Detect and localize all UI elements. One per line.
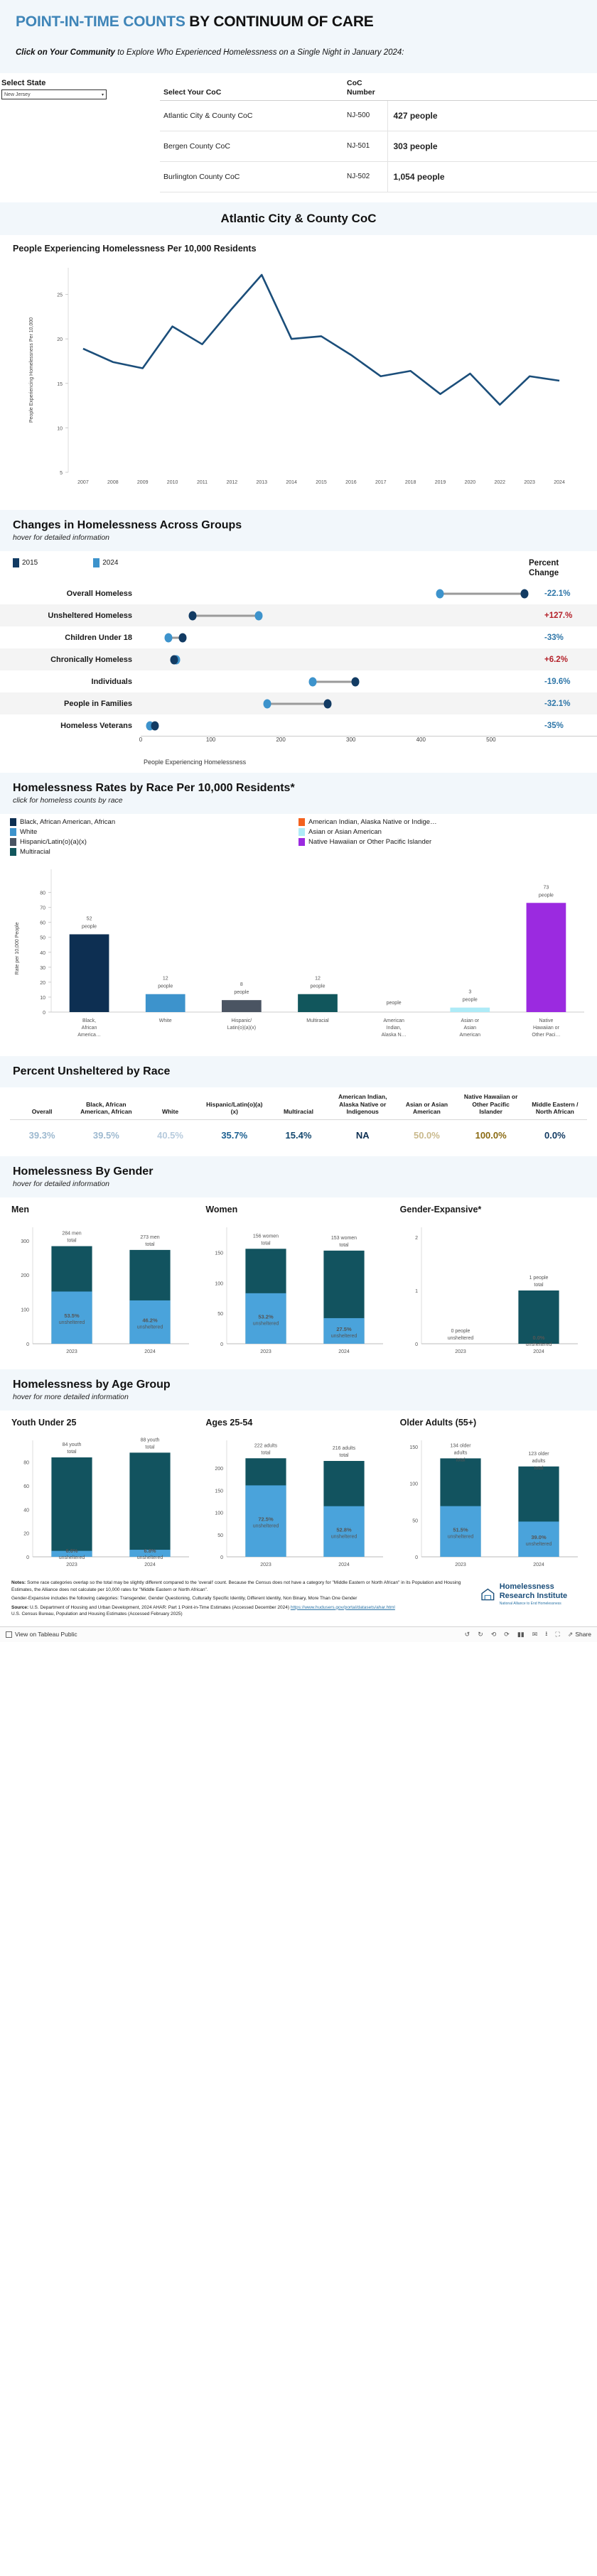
coc-number: NJ-502 — [343, 161, 387, 192]
svg-text:2024: 2024 — [144, 1349, 156, 1354]
legend-item[interactable]: White — [10, 828, 298, 836]
dumbbell-percent-change: -22.1% — [533, 589, 597, 598]
unsheltered-col-header: Middle Eastern / North African — [523, 1093, 587, 1120]
share-button[interactable]: ⇗Share — [568, 1631, 591, 1638]
redo-icon: ↻ — [478, 1631, 483, 1638]
dumbbell-row[interactable]: Overall Homeless-22.1% — [0, 582, 597, 604]
axis-tick: 0 — [139, 737, 142, 743]
svg-text:200: 200 — [21, 1274, 29, 1279]
svg-text:2013: 2013 — [256, 480, 267, 485]
unsheltered-value: 100.0% — [459, 1120, 523, 1150]
line-chart-svg: 510152025People Experiencing Homelessnes… — [13, 258, 584, 506]
footnotes: Notes: Some race categories overlap so t… — [0, 1572, 597, 1621]
legend-item-2024[interactable]: 2024 — [93, 558, 118, 567]
legend-item-2015[interactable]: 2015 — [13, 558, 38, 567]
dumbbell-row[interactable]: People in Families-32.1% — [0, 692, 597, 714]
unsheltered-col-header: American Indian, Alaska Native or Indige… — [330, 1093, 394, 1120]
svg-text:unsheltered: unsheltered — [137, 1325, 163, 1330]
note-line-2: Gender-Expansive includes the following … — [11, 1595, 472, 1602]
coc-name: Atlantic City & County CoC — [160, 100, 343, 131]
svg-text:2011: 2011 — [197, 480, 208, 485]
svg-text:50: 50 — [40, 936, 45, 941]
subscribe-button[interactable]: ✉ — [532, 1631, 538, 1638]
race-bar-svg: 01020304050607080Rate per 10,000 People5… — [7, 861, 590, 1056]
svg-text:2014: 2014 — [286, 480, 297, 485]
envelope-icon: ✉ — [532, 1631, 538, 1638]
dashboard-page: POINT-IN-TIME COUNTS BY CONTINUUM OF CAR… — [0, 0, 597, 1642]
refresh-button[interactable]: ⟳ — [504, 1631, 510, 1638]
svg-text:2023: 2023 — [66, 1563, 77, 1567]
stacked-chart-title: Youth Under 25 — [11, 1418, 197, 1428]
dumbbell-dot-2015[interactable] — [351, 677, 359, 686]
race-legend-col-right: American Indian, Alaska Native or Indige… — [298, 818, 587, 858]
svg-text:1 people: 1 people — [529, 1276, 548, 1281]
tableau-icon — [6, 1631, 12, 1638]
age-charts-row: Youth Under 2502040608084 youthtotal6.0%… — [0, 1411, 597, 1572]
coc-people-count: 303 people — [387, 131, 597, 161]
svg-text:2023: 2023 — [455, 1563, 466, 1567]
redo-button[interactable]: ↻ — [478, 1631, 483, 1638]
stacked-bar-svg[interactable]: 050100150156 womentotal53.2%unsheltered2… — [205, 1217, 387, 1359]
logo-line1: Homelessness Research Institute — [500, 1582, 586, 1599]
dumbbell-track — [141, 604, 533, 626]
svg-text:200: 200 — [215, 1467, 224, 1472]
dumbbell-dot-2024[interactable] — [264, 699, 271, 708]
fullscreen-button[interactable]: ⛶ — [555, 1631, 559, 1638]
legend-label: Black, African American, African — [20, 818, 115, 826]
line-chart-title: People Experiencing Homelessness Per 10,… — [13, 244, 584, 254]
svg-text:unsheltered: unsheltered — [525, 1543, 552, 1548]
pause-icon: ▮▮ — [517, 1631, 525, 1638]
refresh-icon: ⟳ — [504, 1631, 510, 1638]
dumbbell-connector — [267, 702, 328, 705]
svg-text:Other Paci…: Other Paci… — [532, 1033, 560, 1038]
svg-text:150: 150 — [215, 1489, 224, 1494]
hero-header: POINT-IN-TIME COUNTS BY CONTINUUM OF CAR… — [0, 0, 597, 73]
dumbbell-dot-2015[interactable] — [151, 721, 158, 730]
dumbbell-percent-change: -35% — [533, 722, 597, 730]
svg-text:0: 0 — [220, 1555, 223, 1560]
selector-row: Select State New Jersey ▾ Select Your Co… — [0, 73, 597, 192]
dumbbell-dot-2024[interactable] — [436, 589, 443, 598]
svg-text:84 youth: 84 youth — [63, 1442, 82, 1447]
unsheltered-table: OverallBlack, African American, AfricanW… — [10, 1093, 587, 1149]
line-chart[interactable]: 510152025People Experiencing Homelessnes… — [13, 258, 584, 510]
svg-text:unsheltered: unsheltered — [137, 1555, 163, 1560]
svg-text:0: 0 — [415, 1555, 418, 1560]
dumbbell-track — [141, 582, 533, 604]
coc-name: Burlington County CoC — [160, 161, 343, 192]
svg-text:70: 70 — [40, 906, 45, 911]
dumbbell-x-axis: 0100200300400500 — [141, 737, 597, 758]
svg-text:60: 60 — [40, 921, 45, 926]
unsheltered-col-header: Native Hawaiian or Other Pacific Islande… — [459, 1093, 523, 1120]
svg-text:39.0%: 39.0% — [531, 1535, 547, 1541]
undo-icon: ↺ — [465, 1631, 470, 1638]
state-select-value: New Jersey — [4, 92, 102, 97]
line-chart-panel: People Experiencing Homelessness Per 10,… — [0, 235, 597, 510]
svg-text:0 people: 0 people — [451, 1329, 470, 1334]
dumbbell-row[interactable]: Individuals-19.6% — [0, 670, 597, 692]
dumbbell-connector — [193, 614, 259, 616]
dumbbell-row[interactable]: Chronically Homeless+6.2% — [0, 648, 597, 670]
stacked-chart-title: Older Adults (55+) — [400, 1418, 586, 1428]
unsheltered-banner: Percent Unsheltered by Race — [0, 1056, 597, 1087]
svg-text:2017: 2017 — [375, 480, 387, 485]
coc-col-people — [387, 79, 597, 100]
coc-people-count: 427 people — [387, 100, 597, 131]
svg-text:Asian: Asian — [464, 1026, 477, 1031]
axis-tick: 100 — [206, 737, 215, 743]
svg-text:unsheltered: unsheltered — [253, 1322, 279, 1327]
svg-text:50: 50 — [218, 1313, 224, 1317]
stacked-chart-cell: Men0100200300284 mentotal53.5%unsheltere… — [7, 1205, 201, 1359]
gender-banner: Homelessness By Gender hover for detaile… — [0, 1156, 597, 1197]
dumbbell-dot-2015[interactable] — [171, 655, 178, 664]
svg-text:2007: 2007 — [77, 480, 89, 485]
gender-charts-row: Men0100200300284 mentotal53.5%unsheltere… — [0, 1197, 597, 1359]
svg-text:20: 20 — [40, 981, 45, 986]
toolbar-actions: ↺ ↻ ⟲ ⟳ ▮▮ ✉ ⭳ ⛶ ⇗Share — [465, 1629, 591, 1640]
dumbbell-percent-change: -32.1% — [533, 700, 597, 708]
dumbbell-row[interactable]: Unsheltered Homeless+127.% — [0, 604, 597, 626]
logo: Homelessness Research Institute National… — [480, 1580, 586, 1606]
svg-text:unsheltered: unsheltered — [447, 1336, 473, 1341]
dumbbell-dot-2024[interactable] — [309, 677, 317, 686]
coc-table-header-row: Select Your CoC CoC Number — [160, 79, 597, 100]
stacked-bar-svg[interactable]: 02040608084 youthtotal6.0%unsheltered202… — [11, 1430, 193, 1572]
view-on-tableau-public[interactable]: View on Tableau Public — [6, 1631, 77, 1638]
svg-text:60: 60 — [23, 1484, 29, 1489]
legend-item[interactable]: Hispanic/Latin(o)(a)(x) — [10, 838, 298, 846]
svg-text:15: 15 — [57, 381, 63, 386]
legend-swatch-2015 — [13, 558, 19, 567]
note-line-1: Notes: Some race categories overlap so t… — [11, 1580, 472, 1593]
dumbbell-row-label: Homeless Veterans — [0, 722, 141, 731]
coc-people-count: 1,054 people — [387, 161, 597, 192]
svg-text:People Experiencing Homelessne: People Experiencing Homelessness Per 10,… — [29, 317, 34, 422]
svg-text:72.5%: 72.5% — [259, 1516, 274, 1523]
svg-text:50: 50 — [412, 1519, 418, 1524]
svg-text:10: 10 — [40, 996, 45, 1001]
svg-text:30: 30 — [40, 966, 45, 971]
page-title-accent: POINT-IN-TIME COUNTS — [16, 13, 185, 30]
download-button[interactable]: ⭳ — [545, 1629, 547, 1640]
dumbbell-percent-change: +127.% — [533, 612, 597, 620]
svg-text:people: people — [310, 984, 325, 989]
stacked-bar-svg[interactable]: 050100150200222 adultstotal72.5%unshelte… — [205, 1430, 387, 1572]
svg-text:total: total — [67, 1239, 77, 1244]
svg-text:0.0%: 0.0% — [532, 1335, 544, 1341]
svg-text:40: 40 — [40, 951, 45, 956]
svg-text:134 older: 134 older — [450, 1444, 471, 1449]
svg-text:adults: adults — [453, 1451, 467, 1456]
svg-text:unsheltered: unsheltered — [59, 1321, 85, 1326]
svg-text:people: people — [463, 998, 478, 1003]
stacked-bar-svg[interactable]: 050100150134 olderadultstotal51.5%unshel… — [400, 1430, 582, 1572]
dumbbell-track — [141, 626, 533, 648]
race-banner: Homelessness Rates by Race Per 10,000 Re… — [0, 773, 597, 814]
svg-text:0: 0 — [415, 1342, 418, 1347]
svg-text:American: American — [459, 1033, 480, 1038]
svg-text:40: 40 — [23, 1509, 29, 1513]
unsheltered-col-header: Hispanic/Latin(o)(a)(x) — [203, 1093, 267, 1120]
state-selector-group: Select State New Jersey ▾ — [0, 79, 160, 192]
svg-text:unsheltered: unsheltered — [331, 1535, 357, 1540]
svg-text:73: 73 — [544, 886, 549, 891]
hero-subtitle-rest: to Explore Who Experienced Homelessness … — [115, 48, 404, 57]
svg-text:Indian,: Indian, — [387, 1026, 402, 1031]
state-select[interactable]: New Jersey ▾ — [1, 89, 107, 99]
race-legend-col-left: Black, African American, African White H… — [10, 818, 298, 858]
legend-swatch-nhpi — [298, 838, 305, 846]
svg-text:2023: 2023 — [455, 1349, 466, 1354]
svg-text:1: 1 — [415, 1289, 418, 1294]
svg-text:2024: 2024 — [144, 1563, 156, 1567]
legend-item[interactable]: American Indian, Alaska Native or Indige… — [298, 818, 587, 826]
stacked-chart-cell: Women050100150156 womentotal53.2%unshelt… — [201, 1205, 395, 1359]
note-line-4: U.S. Census Bureau, Population and Housi… — [11, 1611, 472, 1617]
svg-text:2015: 2015 — [316, 480, 327, 485]
groups-banner: Changes in Homelessness Across Groups ho… — [0, 510, 597, 551]
svg-text:people: people — [234, 991, 249, 996]
svg-text:total: total — [534, 1466, 544, 1471]
notes-text: Some race categories overlap so the tota… — [11, 1580, 461, 1592]
unsheltered-value: 40.5% — [138, 1120, 202, 1150]
stacked-chart-cell: Older Adults (55+)050100150134 olderadul… — [396, 1418, 590, 1572]
revert-button[interactable]: ⟲ — [491, 1631, 497, 1638]
svg-text:2023: 2023 — [261, 1563, 272, 1567]
svg-text:Latin(o)(a)(x): Latin(o)(a)(x) — [227, 1026, 256, 1031]
chevron-down-icon: ▾ — [102, 92, 104, 97]
svg-text:0: 0 — [26, 1342, 29, 1347]
svg-text:20: 20 — [57, 337, 63, 342]
select-state-label: Select State — [1, 79, 160, 87]
svg-text:80: 80 — [23, 1461, 29, 1466]
dumbbell-row-label: Overall Homeless — [0, 589, 141, 599]
legend-swatch-amindian — [298, 818, 305, 826]
unsheltered-col-header: Overall — [10, 1093, 74, 1120]
legend-swatch-asian — [298, 828, 305, 836]
coc-col-number: CoC Number — [343, 79, 387, 100]
dumbbell-track — [141, 670, 533, 692]
svg-text:unsheltered: unsheltered — [59, 1555, 85, 1560]
svg-text:2024: 2024 — [554, 480, 565, 485]
source-label: Source: — [11, 1605, 28, 1610]
stacked-chart-title: Men — [11, 1205, 197, 1214]
svg-text:216 adults: 216 adults — [333, 1446, 356, 1451]
axis-tick: 300 — [346, 737, 355, 743]
legend-item[interactable]: Black, African American, African — [10, 818, 298, 826]
coc-table: Select Your CoC CoC Number Atlantic City… — [160, 79, 597, 192]
legend-label: Native Hawaiian or Other Pacific Islande… — [308, 838, 431, 846]
svg-text:2016: 2016 — [345, 480, 357, 485]
logo-line2: National Alliance to End Homelessness — [500, 1602, 586, 1607]
svg-text:150: 150 — [215, 1251, 224, 1256]
page-title: POINT-IN-TIME COUNTS BY CONTINUUM OF CAR… — [16, 13, 581, 31]
alliance-logo-icon — [480, 1585, 495, 1604]
source-link[interactable]: https://www.hudusers.gov/portal/datasets… — [291, 1605, 395, 1610]
svg-text:100: 100 — [215, 1511, 224, 1516]
dumbbell-row[interactable]: Children Under 18-33% — [0, 626, 597, 648]
legend-swatch-black — [10, 818, 16, 826]
legend-item[interactable]: Asian or Asian American — [298, 828, 587, 836]
unsheltered-col-header: Asian or Asian American — [394, 1093, 458, 1120]
table-row[interactable]: Atlantic City & County CoC NJ-500 427 pe… — [160, 100, 597, 131]
svg-text:total: total — [534, 1283, 544, 1288]
unsheltered-value: 50.0% — [394, 1120, 458, 1150]
dumbbell-dot-2015[interactable] — [521, 589, 529, 598]
unsheltered-title: Percent Unsheltered by Race — [13, 1065, 584, 1078]
footnotes-text: Notes: Some race categories overlap so t… — [11, 1580, 480, 1617]
legend-swatch-white — [10, 828, 16, 836]
svg-text:5: 5 — [60, 471, 63, 476]
share-label: Share — [575, 1631, 591, 1638]
dumbbell-row-label: Chronically Homeless — [0, 656, 141, 665]
svg-text:284 men: 284 men — [62, 1232, 81, 1237]
race-hint: click for homeless counts by race — [13, 796, 584, 805]
svg-text:total: total — [340, 1243, 350, 1248]
stacked-chart-cell: Ages 25-54050100150200222 adultstotal72.… — [201, 1418, 395, 1572]
svg-text:80: 80 — [40, 891, 45, 896]
svg-text:53.2%: 53.2% — [259, 1314, 274, 1320]
race-title: Homelessness Rates by Race Per 10,000 Re… — [13, 782, 584, 795]
dumbbell-dot-2015[interactable] — [179, 633, 187, 642]
svg-text:White: White — [159, 1018, 172, 1023]
unsheltered-header-row: OverallBlack, African American, AfricanW… — [10, 1093, 587, 1120]
undo-button[interactable]: ↺ — [465, 1631, 470, 1638]
legend-item[interactable]: Native Hawaiian or Other Pacific Islande… — [298, 838, 587, 846]
pause-button[interactable]: ▮▮ — [517, 1631, 525, 1638]
svg-text:6.8%: 6.8% — [144, 1548, 156, 1554]
svg-text:12: 12 — [315, 977, 321, 982]
svg-text:2012: 2012 — [227, 480, 238, 485]
svg-text:2024: 2024 — [533, 1349, 544, 1354]
svg-text:Hispanic/: Hispanic/ — [231, 1018, 252, 1023]
svg-text:2024: 2024 — [339, 1563, 350, 1567]
coc-name: Bergen County CoC — [160, 131, 343, 161]
svg-text:2009: 2009 — [137, 480, 149, 485]
stacked-chart-title: Ages 25-54 — [205, 1418, 391, 1428]
legend-label: American Indian, Alaska Native or Indige… — [308, 818, 437, 826]
svg-text:0: 0 — [26, 1555, 29, 1560]
unsheltered-value-row: 39.3%39.5%40.5%35.7%15.4%NA50.0%100.0%0.… — [10, 1120, 587, 1150]
dumbbell-track — [141, 648, 533, 670]
svg-text:2019: 2019 — [435, 480, 446, 485]
svg-text:unsheltered: unsheltered — [253, 1524, 279, 1529]
svg-text:people: people — [158, 984, 173, 989]
stacked-bar-svg[interactable]: 0120 peopleunsheltered20231 peopletotal0… — [400, 1217, 582, 1359]
hero-subtitle-bold: Click on Your Community — [16, 48, 115, 57]
fullscreen-icon: ⛶ — [555, 1631, 559, 1638]
view-label: View on Tableau Public — [15, 1631, 77, 1638]
svg-text:people: people — [539, 893, 554, 898]
dumbbell-percent-change: -33% — [533, 634, 597, 642]
svg-text:25: 25 — [57, 293, 63, 298]
svg-text:Asian or: Asian or — [461, 1018, 479, 1023]
svg-text:100: 100 — [409, 1482, 418, 1487]
svg-text:8: 8 — [240, 983, 243, 988]
gender-title: Homelessness By Gender — [13, 1165, 584, 1178]
dumbbell-connector — [440, 592, 525, 594]
legend-item[interactable]: Multiracial — [10, 848, 298, 856]
svg-text:100: 100 — [21, 1308, 29, 1313]
gender-hint: hover for detailed information — [13, 1180, 584, 1188]
svg-text:America…: America… — [77, 1033, 101, 1038]
svg-text:total: total — [67, 1450, 77, 1455]
svg-text:total: total — [262, 1241, 271, 1246]
legend-label-2015: 2015 — [22, 559, 38, 567]
coc-banner-title: Atlantic City & County CoC — [13, 212, 584, 226]
hero-subtitle: Click on Your Community to Explore Who E… — [16, 47, 581, 60]
legend-label: Asian or Asian American — [308, 828, 382, 836]
svg-text:2022: 2022 — [495, 480, 506, 485]
svg-text:total: total — [262, 1451, 271, 1456]
svg-text:American: American — [383, 1018, 404, 1023]
svg-text:2023: 2023 — [66, 1349, 77, 1354]
race-bar-chart[interactable]: 01020304050607080Rate per 10,000 People5… — [0, 861, 597, 1056]
svg-text:2020: 2020 — [465, 480, 476, 485]
axis-tick: 500 — [486, 737, 495, 743]
svg-text:3: 3 — [468, 990, 471, 995]
svg-text:52.8%: 52.8% — [337, 1527, 353, 1533]
legend-label: Hispanic/Latin(o)(a)(x) — [20, 838, 87, 846]
svg-text:2010: 2010 — [167, 480, 178, 485]
svg-text:total: total — [145, 1242, 155, 1247]
legend-swatch-2024 — [93, 558, 99, 567]
dumbbell-dot-2024[interactable] — [254, 611, 262, 620]
svg-text:300: 300 — [21, 1239, 29, 1244]
stacked-bar-svg[interactable]: 0100200300284 mentotal53.5%unsheltered20… — [11, 1217, 193, 1359]
stacked-chart-title: Gender-Expansive* — [400, 1205, 586, 1214]
table-row[interactable]: Burlington County CoC NJ-502 1,054 peopl… — [160, 161, 597, 192]
axis-tick: 400 — [416, 737, 426, 743]
dumbbell-track — [141, 692, 533, 714]
dumbbell-row-label: Unsheltered Homeless — [0, 612, 141, 621]
svg-text:unsheltered: unsheltered — [331, 1334, 357, 1339]
svg-text:adults: adults — [532, 1459, 545, 1464]
unsheltered-value: NA — [330, 1120, 394, 1150]
svg-text:10: 10 — [57, 426, 63, 431]
svg-text:53.5%: 53.5% — [64, 1313, 80, 1320]
tableau-toolbar: View on Tableau Public ↺ ↻ ⟲ ⟳ ▮▮ ✉ ⭳ ⛶ … — [0, 1626, 597, 1642]
svg-text:people: people — [387, 1001, 402, 1006]
svg-text:52: 52 — [87, 917, 92, 922]
notes-label: Notes: — [11, 1580, 26, 1585]
legend-label-2024: 2024 — [102, 559, 118, 567]
dumbbell-connector — [313, 680, 355, 683]
age-banner: Homelessness by Age Group hover for more… — [0, 1369, 597, 1411]
dumbbell-row[interactable]: Homeless Veterans-35% — [0, 714, 597, 737]
groups-title: Changes in Homelessness Across Groups — [13, 519, 584, 532]
source-text: U.S. Department of Housing and Urban Dev… — [28, 1605, 291, 1610]
coc-table-container: Select Your CoC CoC Number Atlantic City… — [160, 79, 597, 192]
svg-text:unsheltered: unsheltered — [447, 1535, 473, 1540]
race-legend: Black, African American, African White H… — [0, 814, 597, 861]
dumbbell-percent-change: +6.2% — [533, 656, 597, 664]
dumbbell-dot-2024[interactable] — [165, 633, 173, 642]
unsheltered-value: 15.4% — [267, 1120, 330, 1150]
dumbbell-dot-2015[interactable] — [324, 699, 332, 708]
coc-number: NJ-500 — [343, 100, 387, 131]
dumbbell-chart[interactable]: Overall Homeless-22.1%Unsheltered Homele… — [0, 578, 597, 737]
svg-text:50: 50 — [218, 1533, 224, 1538]
dumbbell-dot-2015[interactable] — [188, 611, 196, 620]
svg-text:total: total — [340, 1453, 350, 1458]
svg-text:153 women: 153 women — [331, 1236, 357, 1241]
table-row[interactable]: Bergen County CoC NJ-501 303 people — [160, 131, 597, 161]
coc-banner: Atlantic City & County CoC — [0, 202, 597, 235]
